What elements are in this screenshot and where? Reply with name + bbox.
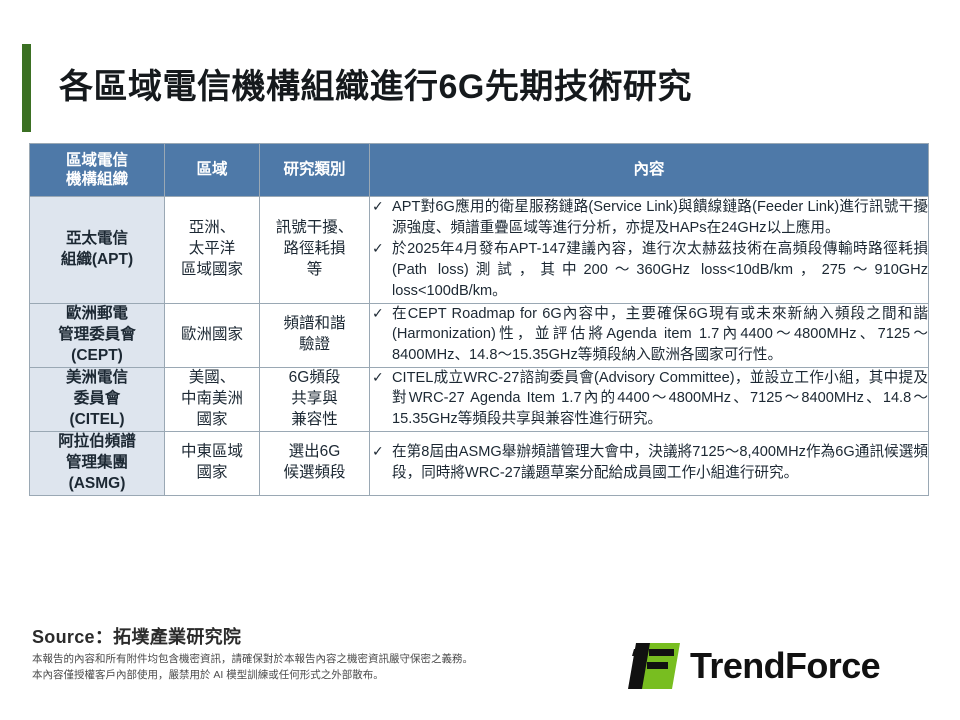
bullet-item: ✓CITEL成立WRC-27諮詢委員會(Advisory Committee)，… xyxy=(370,368,928,430)
check-icon: ✓ xyxy=(372,368,384,388)
trendforce-logo-text: TrendForce xyxy=(690,648,880,684)
bullet-text: 在第8屆由ASMG舉辦頻譜管理大會中，決議將7125～8,400MHz作為6G通… xyxy=(392,444,928,481)
cell-region: 中東區域國家 xyxy=(165,431,260,495)
table-row: 阿拉伯頻譜管理集團(ASMG)中東區域國家選出6G候選頻段✓在第8屆由ASMG舉… xyxy=(30,431,929,495)
cell-content: ✓CITEL成立WRC-27諮詢委員會(Advisory Committee)，… xyxy=(370,367,929,431)
title-block: 各區域電信機構組織進行6G先期技術研究 xyxy=(0,40,960,135)
cell-region: 美國、中南美洲國家 xyxy=(165,367,260,431)
check-icon: ✓ xyxy=(372,197,384,217)
disclaimer-line-2: 本內容僅授權客戶內部使用，嚴禁用於 AI 模型訓練或任何形式之外部散布。 xyxy=(32,668,473,684)
table-header-row: 區域電信機構組織 區域 研究類別 內容 xyxy=(30,144,929,197)
disclaimer-text: 本報告的內容和所有附件均包含機密資訊，請確保對於本報告內容之機密資訊嚴守保密之義… xyxy=(32,652,473,684)
cell-region: 亞洲、太平洋區域國家 xyxy=(165,197,260,304)
cell-organization: 亞太電信組織(APT) xyxy=(30,197,165,304)
column-header-content: 內容 xyxy=(370,144,929,197)
source-label: Source：拓墣產業研究院 xyxy=(32,623,241,649)
cell-category: 6G頻段共享與兼容性 xyxy=(260,367,370,431)
bullet-item: ✓在第8屆由ASMG舉辦頻譜管理大會中，決議將7125～8,400MHz作為6G… xyxy=(370,442,928,483)
cell-category: 選出6G候選頻段 xyxy=(260,431,370,495)
bullet-list: ✓CITEL成立WRC-27諮詢委員會(Advisory Committee)，… xyxy=(370,368,928,430)
cell-region: 歐洲國家 xyxy=(165,303,260,367)
bullet-item: ✓於2025年4月發布APT-147建議內容，進行次太赫茲技術在高頻段傳輸時路徑… xyxy=(370,239,928,301)
trendforce-logo: TrendForce xyxy=(628,643,880,689)
cell-organization: 歐洲郵電管理委員會(CEPT) xyxy=(30,303,165,367)
bullet-text: CITEL成立WRC-27諮詢委員會(Advisory Committee)，並… xyxy=(392,370,928,427)
cell-organization: 美洲電信委員會(CITEL) xyxy=(30,367,165,431)
bullet-item: ✓APT對6G應用的衛星服務鏈路(Service Link)與饋線鏈路(Feed… xyxy=(370,197,928,238)
bullet-list: ✓在CEPT Roadmap for 6G內容中，主要確保6G現有或未來新納入頻… xyxy=(370,304,928,366)
trendforce-logo-mark xyxy=(628,643,680,689)
cell-category: 頻譜和諧驗證 xyxy=(260,303,370,367)
bullet-list: ✓在第8屆由ASMG舉辦頻譜管理大會中，決議將7125～8,400MHz作為6G… xyxy=(370,442,928,483)
check-icon: ✓ xyxy=(372,442,384,462)
table-row: 亞太電信組織(APT)亞洲、太平洋區域國家訊號干擾、路徑耗損等✓APT對6G應用… xyxy=(30,197,929,304)
column-header-region: 區域 xyxy=(165,144,260,197)
table-row: 歐洲郵電管理委員會(CEPT)歐洲國家頻譜和諧驗證✓在CEPT Roadmap … xyxy=(30,303,929,367)
bullet-text: 在CEPT Roadmap for 6G內容中，主要確保6G現有或未來新納入頻段… xyxy=(392,306,928,363)
bullet-text: 於2025年4月發布APT-147建議內容，進行次太赫茲技術在高頻段傳輸時路徑耗… xyxy=(392,241,928,298)
column-header-organization: 區域電信機構組織 xyxy=(30,144,165,197)
disclaimer-line-1: 本報告的內容和所有附件均包含機密資訊，請確保對於本報告內容之機密資訊嚴守保密之義… xyxy=(32,652,473,668)
table-row: 美洲電信委員會(CITEL)美國、中南美洲國家6G頻段共享與兼容性✓CITEL成… xyxy=(30,367,929,431)
bullet-text: APT對6G應用的衛星服務鏈路(Service Link)與饋線鏈路(Feede… xyxy=(392,199,928,236)
content-table-wrapper: 區域電信機構組織 區域 研究類別 內容 亞太電信組織(APT)亞洲、太平洋區域國… xyxy=(29,143,928,496)
bullet-list: ✓APT對6G應用的衛星服務鏈路(Service Link)與饋線鏈路(Feed… xyxy=(370,197,928,302)
cell-content: ✓在CEPT Roadmap for 6G內容中，主要確保6G現有或未來新納入頻… xyxy=(370,303,929,367)
check-icon: ✓ xyxy=(372,239,384,259)
cell-organization: 阿拉伯頻譜管理集團(ASMG) xyxy=(30,431,165,495)
cell-content: ✓在第8屆由ASMG舉辦頻譜管理大會中，決議將7125～8,400MHz作為6G… xyxy=(370,431,929,495)
bullet-item: ✓在CEPT Roadmap for 6G內容中，主要確保6G現有或未來新納入頻… xyxy=(370,304,928,366)
research-table: 區域電信機構組織 區域 研究類別 內容 亞太電信組織(APT)亞洲、太平洋區域國… xyxy=(29,143,929,496)
page-title: 各區域電信機構組織進行6G先期技術研究 xyxy=(59,69,692,106)
title-accent-bar xyxy=(22,44,31,132)
check-icon: ✓ xyxy=(372,304,384,324)
cell-category: 訊號干擾、路徑耗損等 xyxy=(260,197,370,304)
cell-content: ✓APT對6G應用的衛星服務鏈路(Service Link)與饋線鏈路(Feed… xyxy=(370,197,929,304)
table-body: 亞太電信組織(APT)亞洲、太平洋區域國家訊號干擾、路徑耗損等✓APT對6G應用… xyxy=(30,197,929,496)
column-header-category: 研究類別 xyxy=(260,144,370,197)
